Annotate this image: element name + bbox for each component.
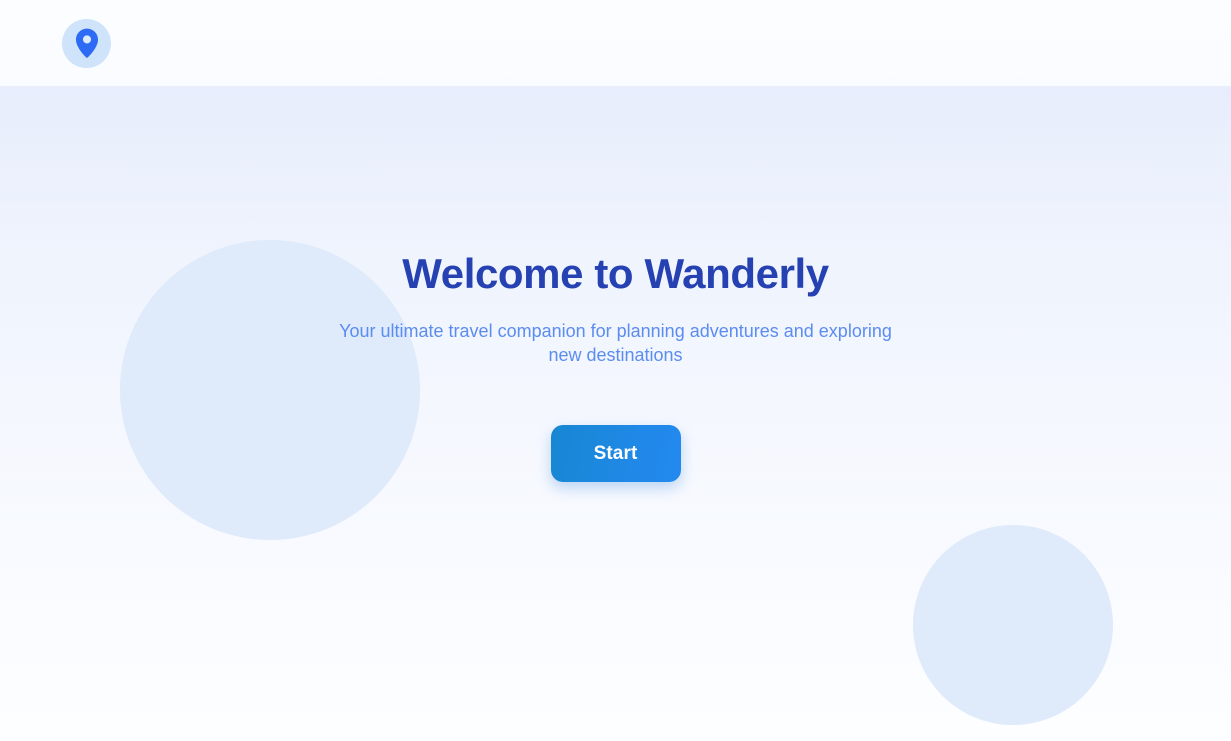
app-logo[interactable] <box>62 19 111 68</box>
decorative-circle-bottom-right <box>913 525 1113 725</box>
start-button[interactable]: Start <box>551 425 681 482</box>
page-title: Welcome to Wanderly <box>0 247 1231 301</box>
page-subtitle: Your ultimate travel companion for plann… <box>336 319 896 367</box>
app-root: Welcome to Wanderly Your ultimate travel… <box>0 0 1231 741</box>
cta-container: Start <box>0 425 1231 482</box>
map-pin-icon <box>75 28 99 58</box>
app-header <box>0 0 1231 87</box>
hero-section: Welcome to Wanderly Your ultimate travel… <box>0 87 1231 741</box>
